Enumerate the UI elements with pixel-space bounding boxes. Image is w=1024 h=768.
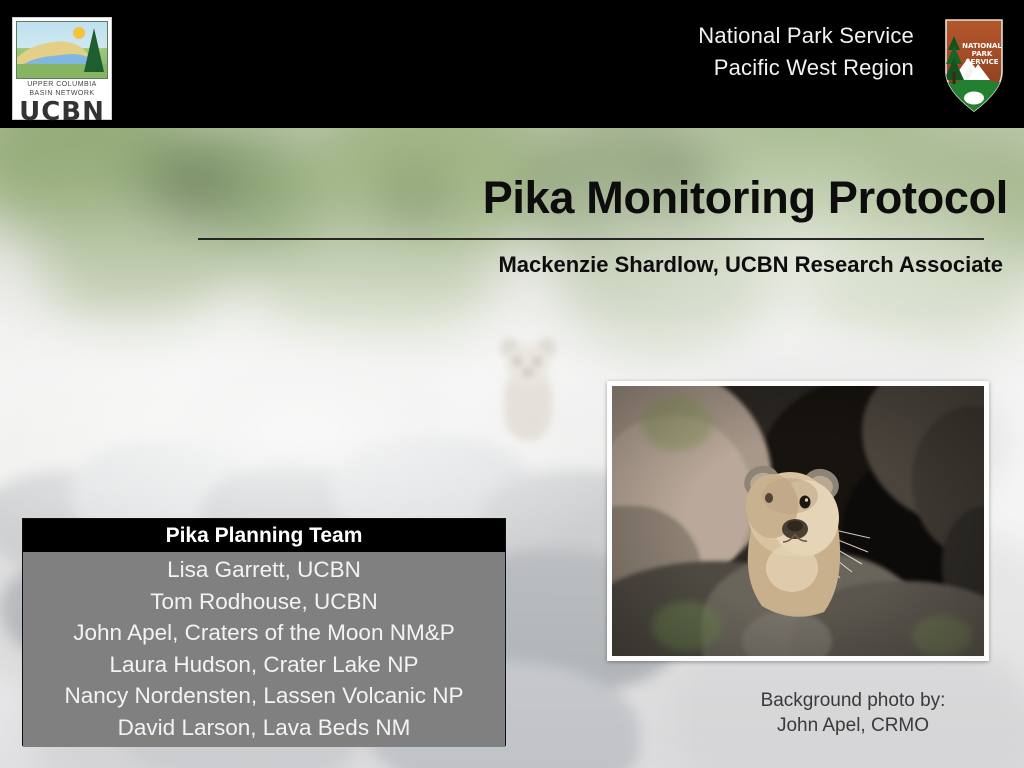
background-photo-credit: Background photo by: John Apel, CRMO <box>716 688 990 738</box>
slide-header-band: UPPER COLUMBIA BASIN NETWORK UCBN Nation… <box>0 0 1024 128</box>
presentation-slide: UPPER COLUMBIA BASIN NETWORK UCBN Nation… <box>0 0 1024 768</box>
title-divider <box>198 238 984 240</box>
ucbn-subtitle: UPPER COLUMBIA BASIN NETWORK <box>16 81 108 98</box>
nps-arrowhead-icon: NATIONAL PARK SERVICE <box>938 14 1010 114</box>
team-member: Laura Hudson, Crater Lake NP <box>110 649 419 681</box>
team-member-list: Lisa Garrett, UCBN Tom Rodhouse, UCBN Jo… <box>23 552 505 747</box>
ucbn-subtitle-line1: UPPER COLUMBIA <box>16 81 108 90</box>
team-member: John Apel, Craters of the Moon NM&P <box>73 617 454 649</box>
credit-line-1: Background photo by: <box>716 688 990 713</box>
credit-line-2: John Apel, CRMO <box>716 713 990 738</box>
team-member: David Larson, Lava Beds NM <box>118 712 411 744</box>
slide-subtitle: Mackenzie Shardlow, UCBN Research Associ… <box>0 252 1003 278</box>
team-member: Lisa Garrett, UCBN <box>167 554 361 586</box>
team-member: Tom Rodhouse, UCBN <box>150 586 378 618</box>
svg-text:NATIONAL: NATIONAL <box>962 42 1002 50</box>
team-panel-heading: Pika Planning Team <box>23 519 505 552</box>
agency-title: National Park Service Pacific West Regio… <box>698 20 914 84</box>
team-member: Nancy Nordensten, Lassen Volcanic NP <box>65 680 464 712</box>
svg-text:PARK: PARK <box>972 50 993 58</box>
ucbn-wordmark: UCBN <box>16 99 108 125</box>
pika-planning-team-panel: Pika Planning Team Lisa Garrett, UCBN To… <box>22 518 506 746</box>
ucbn-landscape-icon <box>16 21 108 79</box>
pika-photo <box>612 386 984 656</box>
ucbn-logo: UPPER COLUMBIA BASIN NETWORK UCBN <box>12 17 112 120</box>
agency-line-1: National Park Service <box>698 20 914 52</box>
agency-line-2: Pacific West Region <box>698 52 914 84</box>
slide-title: Pika Monitoring Protocol <box>0 172 1008 224</box>
svg-text:SERVICE: SERVICE <box>965 58 998 66</box>
background-pika <box>492 336 564 440</box>
pika-photo-frame <box>607 381 989 661</box>
